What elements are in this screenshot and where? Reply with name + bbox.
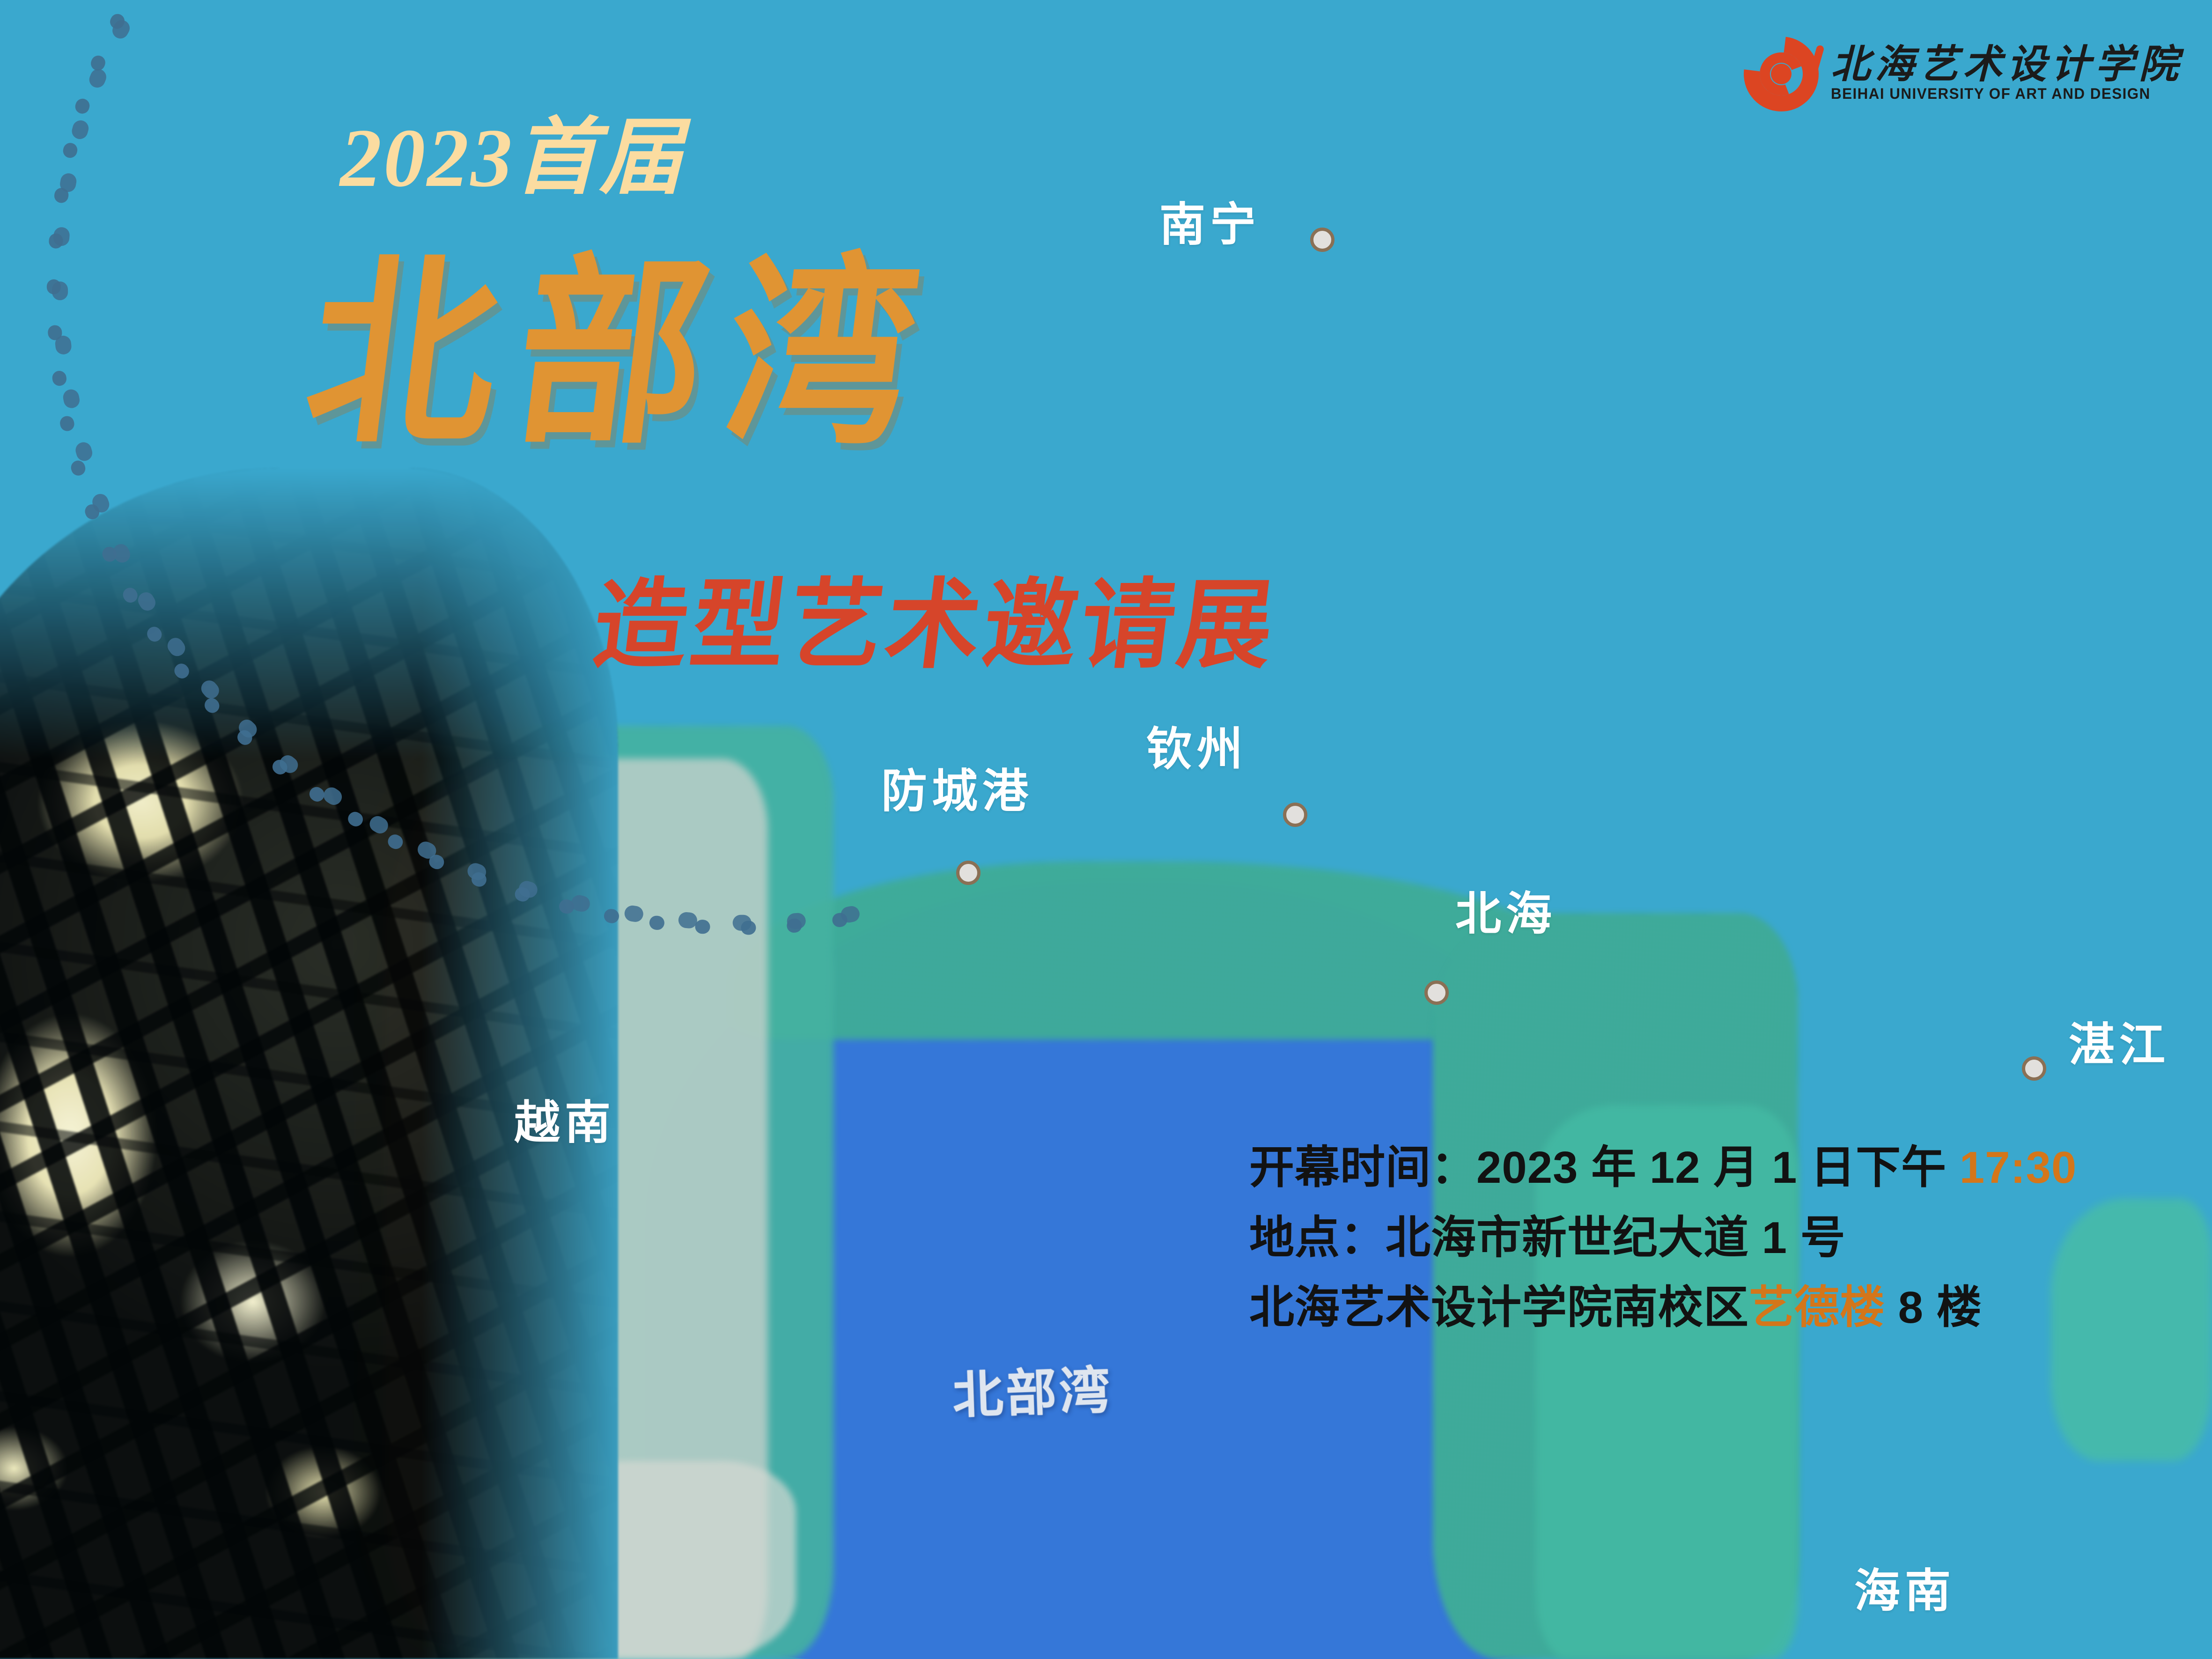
poster-main-title: 北部湾 xyxy=(297,253,949,455)
opening-time-label: 开幕时间： xyxy=(1249,1143,1476,1193)
map-dot-beihai[interactable] xyxy=(1424,981,1449,1005)
map-label-hainan: 海南 xyxy=(1854,1568,1955,1614)
artwork-top-fade xyxy=(0,468,618,759)
map-label-vietnam: 越南 xyxy=(514,1099,615,1145)
map-dot-nanning[interactable] xyxy=(1310,228,1335,252)
map-label-zhanjiang: 湛江 xyxy=(2069,1022,2170,1068)
poster-sub-title: 造型艺术邀请展 xyxy=(588,577,1282,674)
map-label-nanning: 南宁 xyxy=(1159,201,1261,247)
map-dot-qinzhou[interactable] xyxy=(1283,803,1307,827)
opening-date-value: 2023 年 12 月 1 日下午 xyxy=(1476,1143,1960,1193)
map-label-beihai: 北海 xyxy=(1455,891,1556,936)
opening-time-value: 17:30 xyxy=(1960,1143,2077,1193)
university-logo[interactable]: 北海艺术设计学院 BEIHAI UNIVERSITY OF ART AND DE… xyxy=(1744,37,2183,111)
swirl-core xyxy=(1771,64,1792,84)
poster-kicker: 2023首届 xyxy=(340,116,685,199)
event-info-block: 开幕时间：2023 年 12 月 1 日下午 17:30 地点：北海市新世纪大道… xyxy=(1249,1143,2077,1333)
swirl-icon xyxy=(1744,37,1819,111)
artwork-collage xyxy=(0,468,618,1659)
map-label-qinzhou: 钦州 xyxy=(1146,726,1247,772)
map-dot-fangchenggang[interactable] xyxy=(956,861,981,885)
event-venue-line: 地点：北海市新世纪大道 1 号 xyxy=(1249,1213,2077,1263)
map-dot-zhanjiang[interactable] xyxy=(2022,1056,2046,1081)
logo-text-group: 北海艺术设计学院 BEIHAI UNIVERSITY OF ART AND DE… xyxy=(1831,45,2183,102)
building-suffix: 8 楼 xyxy=(1885,1283,1982,1333)
map-label-beibu-gulf: 北部湾 xyxy=(951,1349,1113,1428)
map-label-fangchenggang: 防城港 xyxy=(881,768,1033,814)
event-building-line: 北海艺术设计学院南校区艺德楼 8 楼 xyxy=(1249,1283,2077,1333)
event-opening-time-line: 开幕时间：2023 年 12 月 1 日下午 17:30 xyxy=(1249,1143,2077,1193)
poster-canvas: 北海艺术设计学院 BEIHAI UNIVERSITY OF ART AND DE… xyxy=(0,0,2212,1659)
building-name: 艺德楼 xyxy=(1749,1283,1885,1333)
building-prefix: 北海艺术设计学院南校区 xyxy=(1249,1283,1749,1333)
logo-name-cn: 北海艺术设计学院 xyxy=(1831,45,2183,85)
logo-name-en: BEIHAI UNIVERSITY OF ART AND DESIGN xyxy=(1831,86,2176,102)
